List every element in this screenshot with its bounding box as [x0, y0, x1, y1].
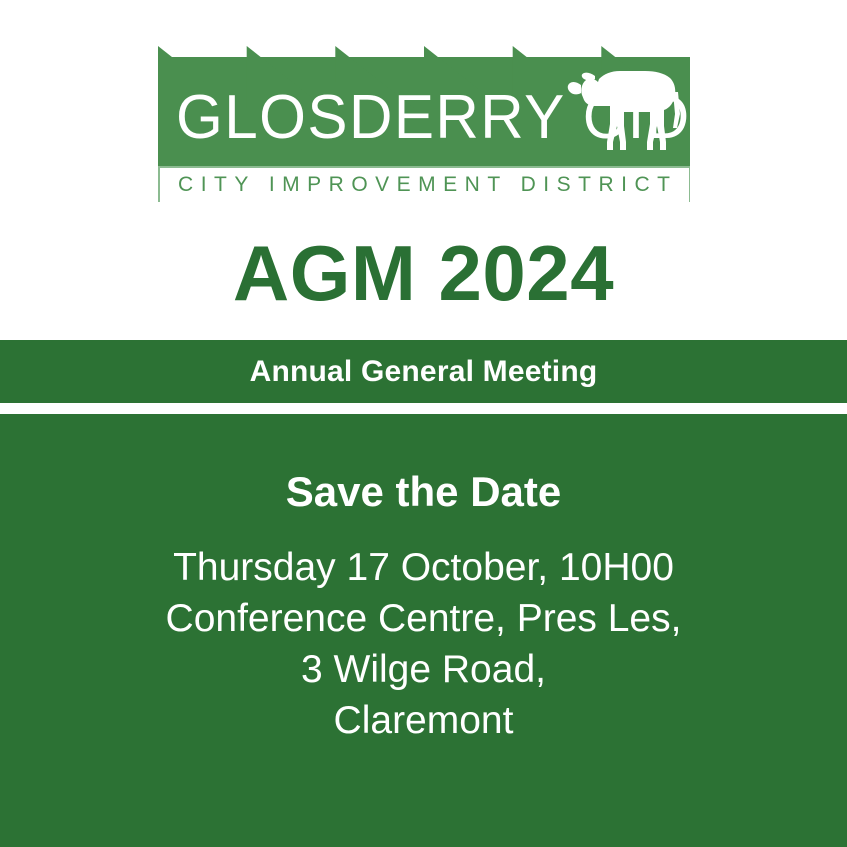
glosderry-cid-logo: GLOSDERRY CID CITY IMPROVEMENT DISTRICT [158, 38, 690, 204]
event-detail-line: Thursday 17 October, 10H00 [0, 542, 847, 593]
save-the-date-heading: Save the Date [0, 471, 847, 513]
factory-sawtooth-roof-icon [158, 38, 690, 166]
subtitle-band: Annual General Meeting [0, 340, 847, 403]
logo-tagline-row: CITY IMPROVEMENT DISTRICT [158, 166, 690, 204]
poster-header-section: GLOSDERRY CID CITY IMPROVEMENT DISTRICT … [0, 0, 847, 340]
poster-body-section: Save the Date Thursday 17 October, 10H00… [0, 414, 847, 847]
tagline-rule-top [158, 166, 690, 168]
save-the-date-poster: GLOSDERRY CID CITY IMPROVEMENT DISTRICT … [0, 0, 847, 847]
section-divider [0, 403, 847, 414]
logo-tagline-text: CITY IMPROVEMENT DISTRICT [158, 173, 690, 197]
event-detail-line: Claremont [0, 695, 847, 746]
event-details: Thursday 17 October, 10H00 Conference Ce… [0, 542, 847, 746]
subtitle-text: Annual General Meeting [250, 357, 598, 387]
logo-mark: GLOSDERRY CID [158, 38, 690, 166]
event-detail-line: Conference Centre, Pres Les, [0, 593, 847, 644]
event-detail-line: 3 Wilge Road, [0, 644, 847, 695]
page-title: AGM 2024 [0, 234, 847, 312]
